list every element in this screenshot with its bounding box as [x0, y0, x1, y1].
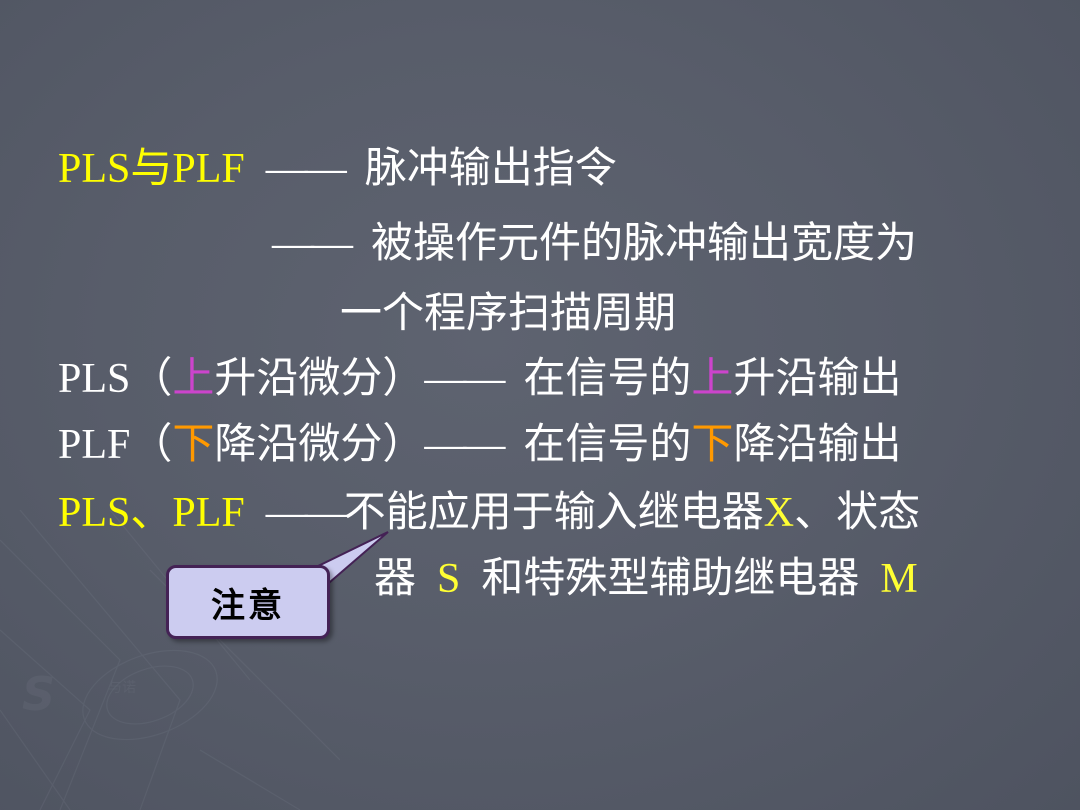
line1-plf: PLF	[172, 146, 244, 192]
line5-prefix: PLF（	[58, 422, 172, 468]
line4-highlight-rise2: 上	[691, 356, 733, 402]
line5-dash: ——	[424, 422, 502, 468]
line6-dash: ——	[266, 490, 344, 536]
line6-pls-plf: PLS、PLF	[58, 490, 245, 536]
line1-dash: ——	[266, 146, 344, 192]
text-line-5: PLF（下降沿微分）—— 在信号的下降沿输出	[58, 422, 901, 468]
line1-desc: 脉冲输出指令	[365, 146, 617, 192]
line4-post2: 升沿输出	[733, 356, 901, 402]
line5-post2: 降沿输出	[733, 422, 901, 468]
note-callout-label: 注意	[211, 578, 285, 627]
line5-post1: 在信号的	[523, 422, 691, 468]
text-line-6: PLS、PLF ——不能应用于输入继电器X、状态	[58, 490, 920, 536]
line1-and: 与	[130, 146, 172, 192]
line2-dash: ——	[272, 221, 350, 267]
line7-device-m: M	[880, 556, 917, 602]
line4-middle: 升沿微分）	[214, 356, 424, 402]
line5-middle: 降沿微分）	[214, 422, 424, 468]
text-line-3: 一个程序扫描周期	[340, 291, 676, 337]
text-line-7: 器 S 和特殊型辅助继电器 M	[374, 556, 918, 602]
line1-pls: PLS	[58, 146, 130, 192]
line6-device-x: X	[764, 490, 794, 536]
line7-prefix: 器	[374, 556, 416, 602]
line4-highlight-rise: 上	[172, 356, 214, 402]
line5-highlight-fall2: 下	[691, 422, 733, 468]
text-line-2: —— 被操作元件的脉冲输出宽度为	[272, 221, 917, 267]
text-line-1: PLS与PLF —— 脉冲输出指令	[58, 146, 617, 192]
line7-desc: 和特殊型辅助继电器	[481, 556, 859, 602]
line2-desc: 被操作元件的脉冲输出宽度为	[371, 221, 917, 267]
line6-desc: 不能应用于输入继电器	[344, 490, 764, 536]
line6-tail: 、状态	[794, 490, 920, 536]
line3-desc: 一个程序扫描周期	[340, 291, 676, 337]
line7-device-s: S	[437, 556, 460, 602]
note-callout-box: 注意	[166, 565, 330, 639]
slide-text-content: PLS与PLF —— 脉冲输出指令 —— 被操作元件的脉冲输出宽度为 一个程序扫…	[0, 0, 1080, 810]
line4-post1: 在信号的	[523, 356, 691, 402]
line5-highlight-fall: 下	[172, 422, 214, 468]
line4-dash: ——	[424, 356, 502, 402]
slide-canvas: S 与诺 PLS与PLF —— 脉冲输出指令 —— 被操作元件的脉冲输出宽度为 …	[0, 0, 1080, 810]
line4-prefix: PLS（	[58, 356, 172, 402]
text-line-4: PLS（上升沿微分）—— 在信号的上升沿输出	[58, 356, 901, 402]
